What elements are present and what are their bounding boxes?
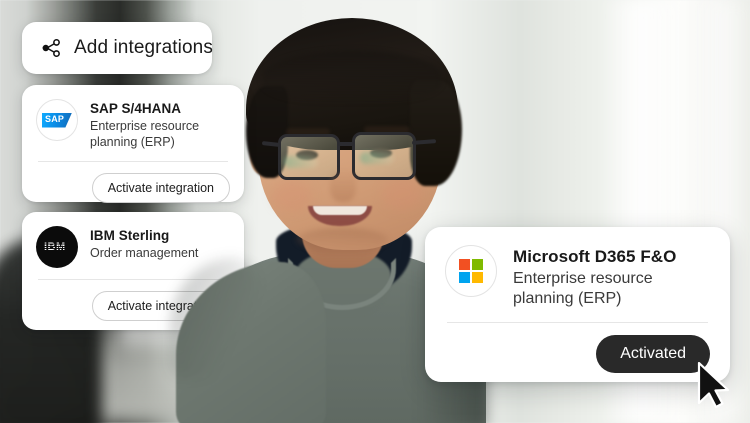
activated-button-microsoft[interactable]: Activated: [596, 335, 710, 373]
add-integrations-label: Add integrations: [74, 37, 213, 59]
microsoft-logo-icon: [445, 245, 497, 297]
card-header: SAP SAP S/4HANA Enterprise resource plan…: [36, 99, 230, 150]
integration-title: IBM Sterling: [90, 228, 169, 243]
integration-panel: Add integrations SAP SAP S/4HANA Enterpr…: [0, 0, 750, 423]
screenshot-root: Add integrations SAP SAP S/4HANA Enterpr…: [0, 0, 750, 423]
card-footer: Activated: [445, 335, 710, 373]
integration-subtitle: Order management: [90, 246, 198, 262]
integration-card-sap[interactable]: SAP SAP S/4HANA Enterprise resource plan…: [22, 85, 244, 202]
add-integrations-button[interactable]: Add integrations: [22, 22, 212, 74]
activate-integration-button-sap[interactable]: Activate integration: [92, 173, 230, 203]
integration-subtitle: Enterprise resource planning (ERP): [513, 269, 710, 308]
card-text: IBM Sterling Order management: [90, 226, 198, 262]
sap-logo-icon: SAP: [36, 99, 78, 141]
card-header: IBM IBM Sterling Order management: [36, 226, 230, 268]
card-footer: Activate integration: [36, 173, 230, 203]
integration-subtitle: Enterprise resource planning (ERP): [90, 119, 230, 150]
card-divider: [38, 161, 228, 162]
card-header: Microsoft D365 F&O Enterprise resource p…: [445, 245, 710, 308]
share-icon: [40, 37, 62, 59]
card-divider: [447, 322, 708, 323]
integration-title: Microsoft D365 F&O: [513, 247, 676, 266]
integration-title: SAP S/4HANA: [90, 101, 181, 116]
integration-card-microsoft[interactable]: Microsoft D365 F&O Enterprise resource p…: [425, 227, 730, 382]
card-text: Microsoft D365 F&O Enterprise resource p…: [513, 245, 710, 308]
card-text: SAP S/4HANA Enterprise resource planning…: [90, 99, 230, 150]
ibm-logo-icon: IBM: [36, 226, 78, 268]
shoulder-occlusion: [176, 262, 326, 423]
